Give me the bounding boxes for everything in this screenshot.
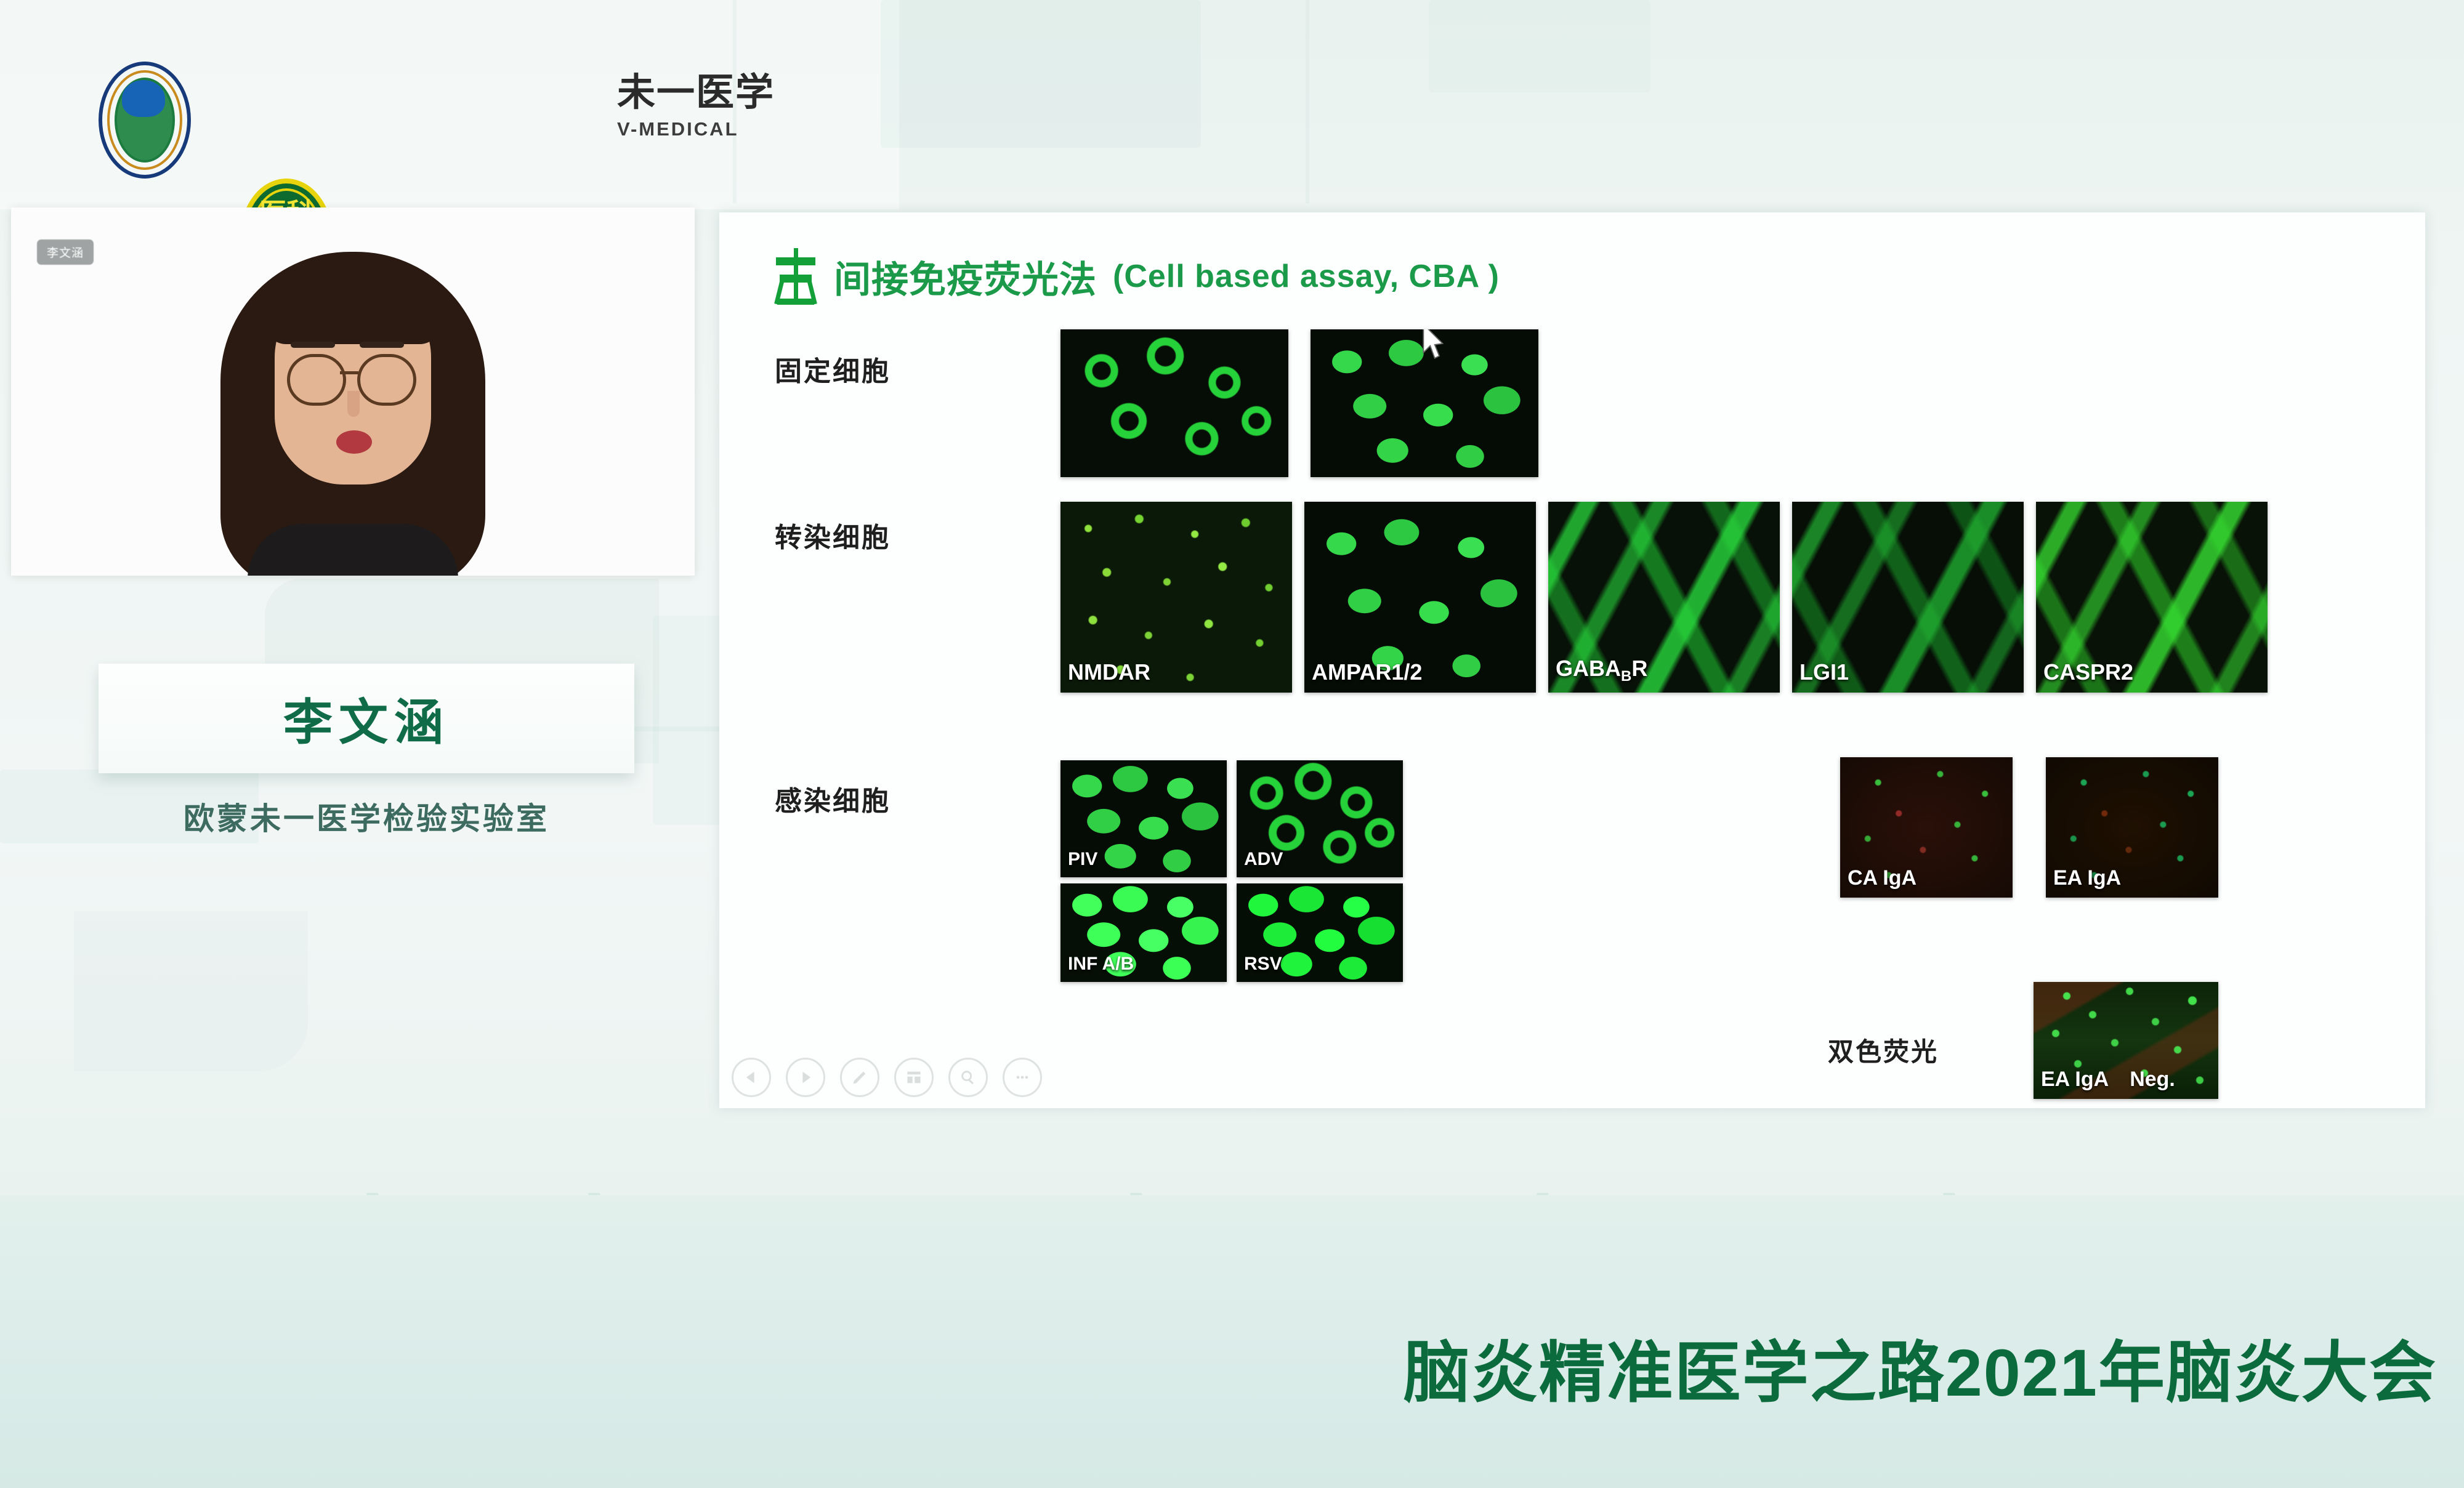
micrograph-fixed-1 xyxy=(1060,329,1288,477)
micrograph-transfected-ampar: AMPAR1/2 xyxy=(1304,502,1536,693)
micrograph-caption: CA IgA xyxy=(1848,866,1917,890)
micrograph-caption: GABABR xyxy=(1556,656,1647,685)
header-logo-strip: 医科 卫生检验 未一医学 V-MEDICAL 欧蒙 一 流 绿 区 xyxy=(0,0,2464,203)
row-label-infected: 感染细胞 xyxy=(775,779,891,818)
micrograph-caption: ADV xyxy=(1244,849,1283,870)
micrograph-caption: INF A/B xyxy=(1068,954,1134,975)
micrograph-caption: PIV xyxy=(1068,849,1097,870)
micrograph-caption: LGI1 xyxy=(1800,659,1849,685)
speaker-name: 李文涵 xyxy=(283,683,450,754)
mouse-cursor-icon xyxy=(1419,329,1446,365)
bg-block-6 xyxy=(74,911,308,1071)
speaker-portrait xyxy=(220,246,485,576)
micrograph-caption: CASPR2 xyxy=(2043,659,2133,685)
row-label-transfected: 转染细胞 xyxy=(775,515,891,555)
previous-slide-button[interactable] xyxy=(732,1058,771,1097)
micrograph-transfected-lgi1: LGI1 xyxy=(1792,502,2024,693)
slide-title: 间接免疫荧光法 (Cell based assay, CBA ) xyxy=(774,248,1500,305)
slide-overview-button[interactable] xyxy=(894,1058,934,1097)
micrograph-caption: EA IgA xyxy=(2053,866,2121,890)
dual-color-label: 双色荧光 xyxy=(1828,1031,1939,1069)
micrograph-caption: AMPAR1/2 xyxy=(1312,659,1422,685)
zoom-tool-button[interactable] xyxy=(948,1058,988,1097)
micrograph-infected-infab: INF A/B xyxy=(1060,883,1227,982)
bottom-banner: 脑炎精准医学之路2021年脑炎大会 xyxy=(0,1195,2464,1488)
micrograph-caption: NMDAR xyxy=(1068,659,1150,685)
micrograph-transfected-gababr: GABABR xyxy=(1548,502,1780,693)
more-options-button[interactable] xyxy=(1003,1058,1042,1097)
micrograph-transfected-nmdar: NMDAR xyxy=(1060,502,1292,693)
micrograph-caption: RSV xyxy=(1244,954,1282,975)
micrograph-transfected-caspr2: CASPR2 xyxy=(2036,502,2268,693)
page-background: 未 未 未 未 未 医科 卫生检验 未一医学 V-MEDICAL xyxy=(0,0,2464,1488)
speaker-video-tile[interactable]: 李文涵 xyxy=(11,207,695,576)
v-medical-logo: 未一医学 V-MEDICAL xyxy=(617,74,775,140)
micrograph-caption: EA IgANeg. xyxy=(2041,1068,2175,1092)
presentation-slide[interactable]: 间接免疫荧光法 (Cell based assay, CBA ) 固定细胞 转染… xyxy=(719,212,2425,1108)
row-label-fixed: 固定细胞 xyxy=(775,349,891,388)
pen-tool-button[interactable] xyxy=(840,1058,879,1097)
speaker-name-card: 李文涵 xyxy=(99,664,634,773)
slide-wei-mark-icon xyxy=(774,248,818,305)
slideshow-toolbar[interactable] xyxy=(732,1058,1042,1097)
micrograph-infected-piv: PIV xyxy=(1060,760,1227,877)
academy-seal-logo xyxy=(99,62,191,179)
micrograph-infected-adv: ADV xyxy=(1237,760,1403,877)
micrograph-ea-iga-neg: EA IgANeg. xyxy=(2034,982,2218,1099)
slide-title-en: (Cell based assay, CBA ) xyxy=(1113,258,1500,295)
v-medical-cn-text: 未一医学 xyxy=(617,74,775,112)
conference-banner-text: 脑炎精准医学之路2021年脑炎大会 xyxy=(1404,1319,2437,1415)
video-name-badge: 李文涵 xyxy=(37,239,94,265)
micrograph-ca-iga: CA IgA xyxy=(1840,757,2013,898)
speaker-affiliation: 欧蒙未一医学检验实验室 xyxy=(99,794,634,839)
slide-title-cn: 间接免疫荧光法 xyxy=(834,250,1097,304)
micrograph-infected-rsv: RSV xyxy=(1237,883,1403,982)
v-medical-en-text: V-MEDICAL xyxy=(617,118,775,140)
micrograph-fixed-2 xyxy=(1311,329,1538,477)
next-slide-button[interactable] xyxy=(786,1058,825,1097)
micrograph-ea-iga: EA IgA xyxy=(2046,757,2218,898)
